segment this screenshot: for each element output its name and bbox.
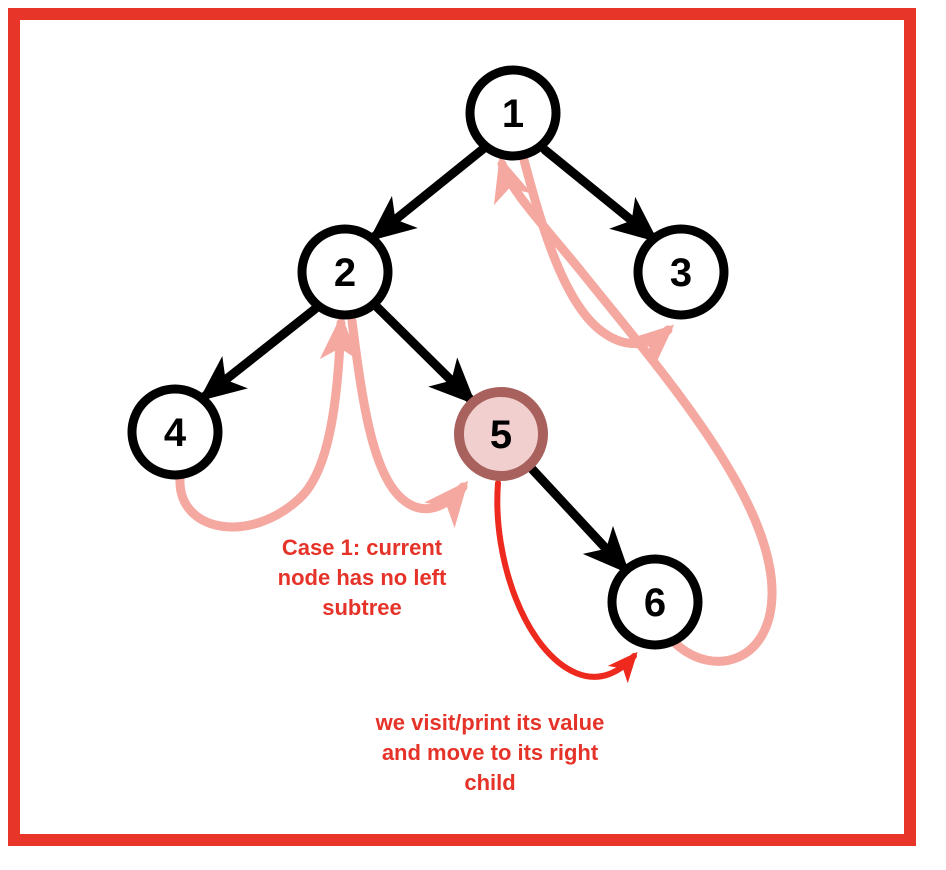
action-note-line-1: we visit/print its value [375,710,605,735]
action-note-line-2: and move to its right [382,740,599,765]
node-4[interactable]: 4 [132,389,218,475]
tree-edge-1-3 [545,150,652,237]
node-6-label: 6 [644,581,666,625]
case-1-note-line-1: Case 1: current [282,535,443,560]
tree-edge-2-5 [377,307,470,399]
traversal-arrow-2-to-5 [352,321,463,509]
node-1[interactable]: 1 [470,70,556,156]
node-3[interactable]: 3 [638,229,724,315]
case-1-note-line-3: subtree [322,595,401,620]
action-note: we visit/print its value and move to its… [375,710,605,795]
node-1-label: 1 [502,92,524,136]
node-4-label: 4 [164,411,187,455]
binary-tree-diagram: 1 2 3 4 5 6 Case 1: current node has no … [0,0,946,870]
node-6[interactable]: 6 [612,559,698,645]
diagram-canvas: 1 2 3 4 5 6 Case 1: current node has no … [0,0,946,870]
case-1-note: Case 1: current node has no left subtree [278,535,447,620]
tree-edge-5-6 [532,469,624,568]
node-5-current[interactable]: 5 [459,392,543,476]
node-5-label: 5 [490,413,512,457]
node-2-label: 2 [334,251,356,295]
tree-edge-2-4 [205,309,315,396]
tree-edge-1-2 [375,149,483,236]
node-2[interactable]: 2 [302,229,388,315]
action-note-line-3: child [464,770,515,795]
node-3-label: 3 [670,251,692,295]
case-1-note-line-2: node has no left [278,565,447,590]
